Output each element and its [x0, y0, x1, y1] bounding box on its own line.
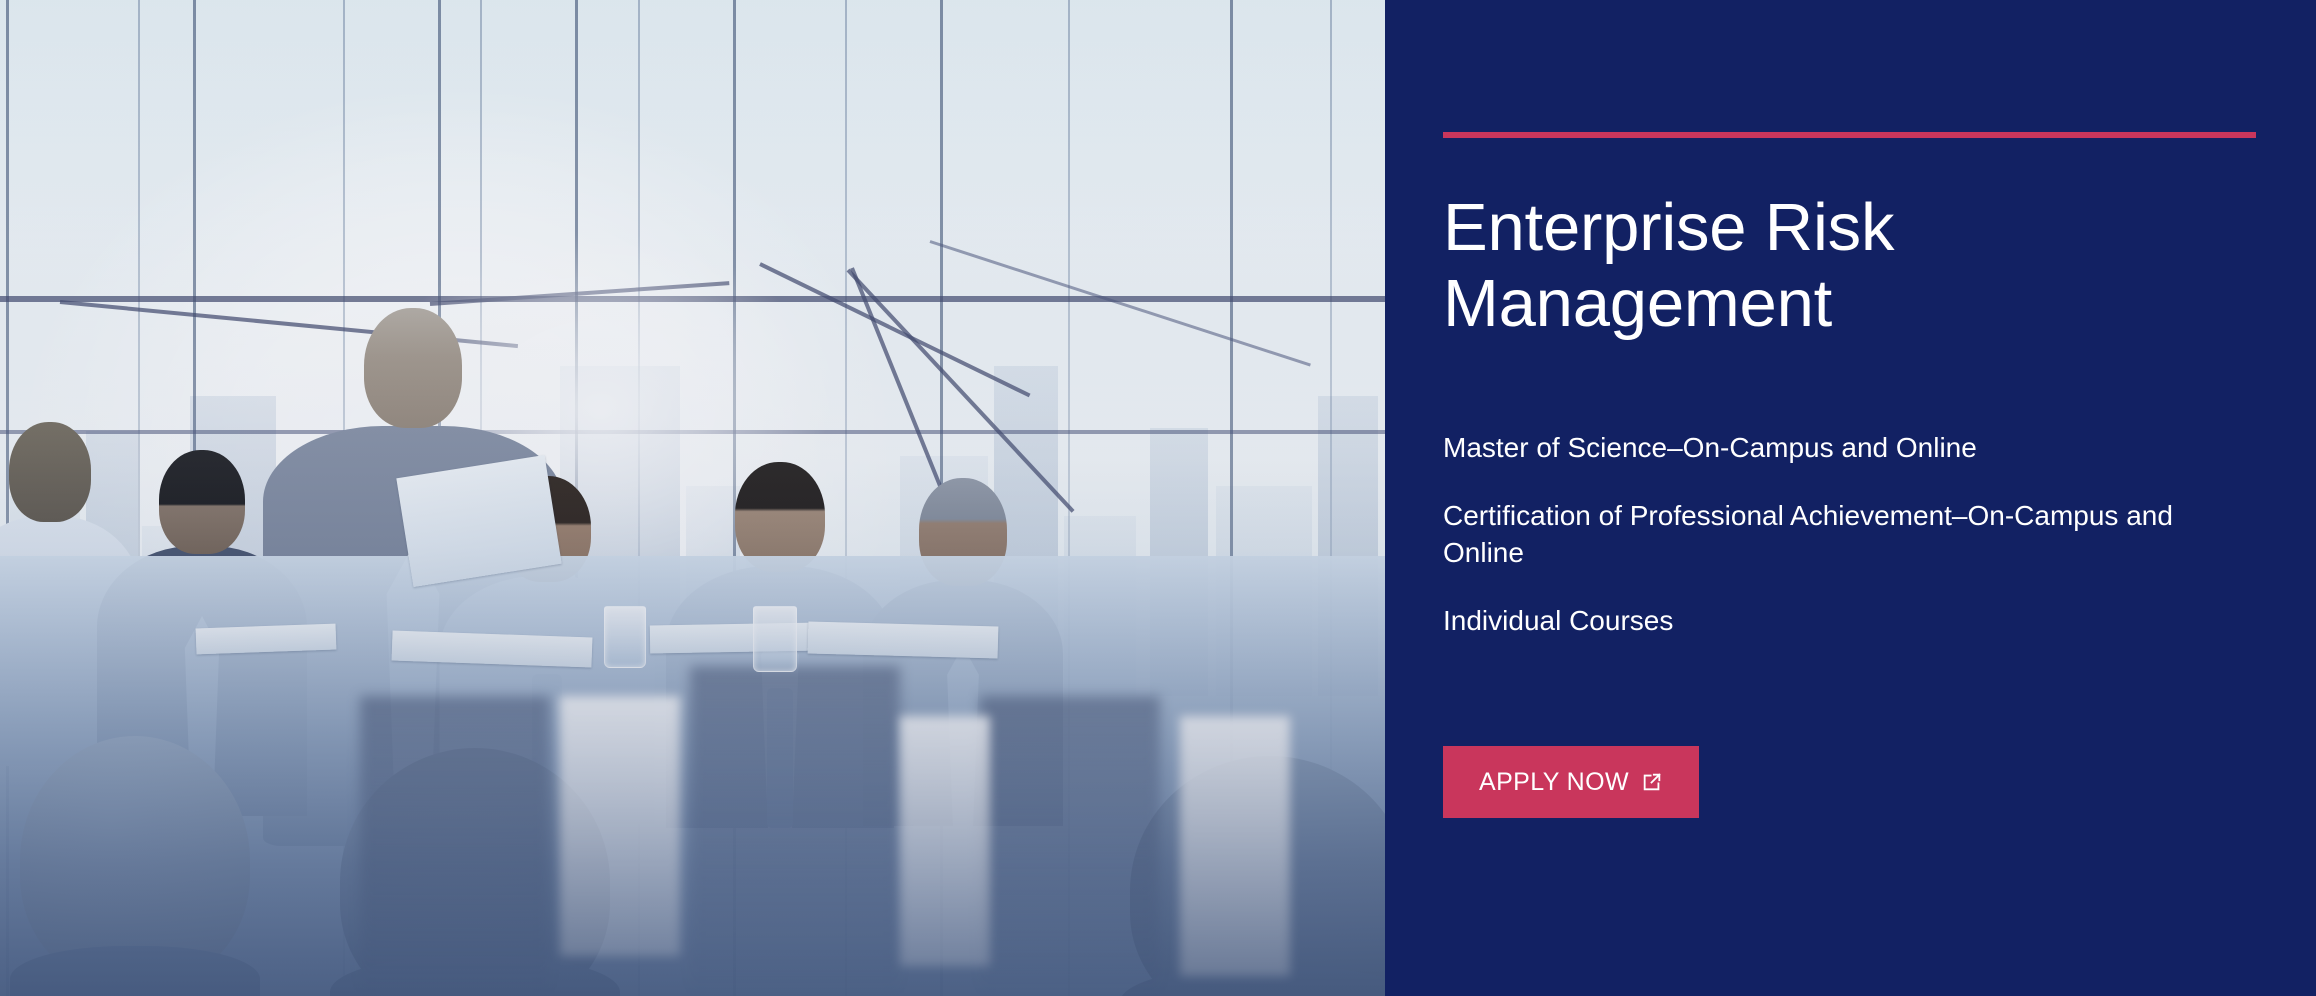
external-link-icon: [1641, 771, 1663, 793]
program-info-panel: Enterprise Risk Management Master of Sci…: [1385, 0, 2316, 996]
program-option-masters: Master of Science–On-Campus and Online: [1443, 430, 2243, 467]
water-glass: [604, 606, 646, 668]
paper-document: [808, 622, 999, 659]
water-glass: [753, 606, 797, 672]
program-option-individual: Individual Courses: [1443, 603, 2243, 640]
accent-bar: [1443, 132, 2256, 138]
paper-document: [396, 455, 561, 587]
paper-document: [196, 624, 337, 655]
program-options-list: Master of Science–On-Campus and Online C…: [1443, 430, 2243, 640]
balcony-rail: [0, 296, 1385, 302]
boardroom-meeting-photo: [0, 0, 1385, 996]
program-option-certification: Certification of Professional Achievemen…: [1443, 498, 2243, 572]
page-title: Enterprise Risk Management: [1443, 190, 2143, 343]
apply-now-label: APPLY NOW: [1479, 768, 1629, 797]
hero-banner: Enterprise Risk Management Master of Sci…: [0, 0, 2316, 996]
apply-now-button[interactable]: APPLY NOW: [1443, 746, 1699, 818]
